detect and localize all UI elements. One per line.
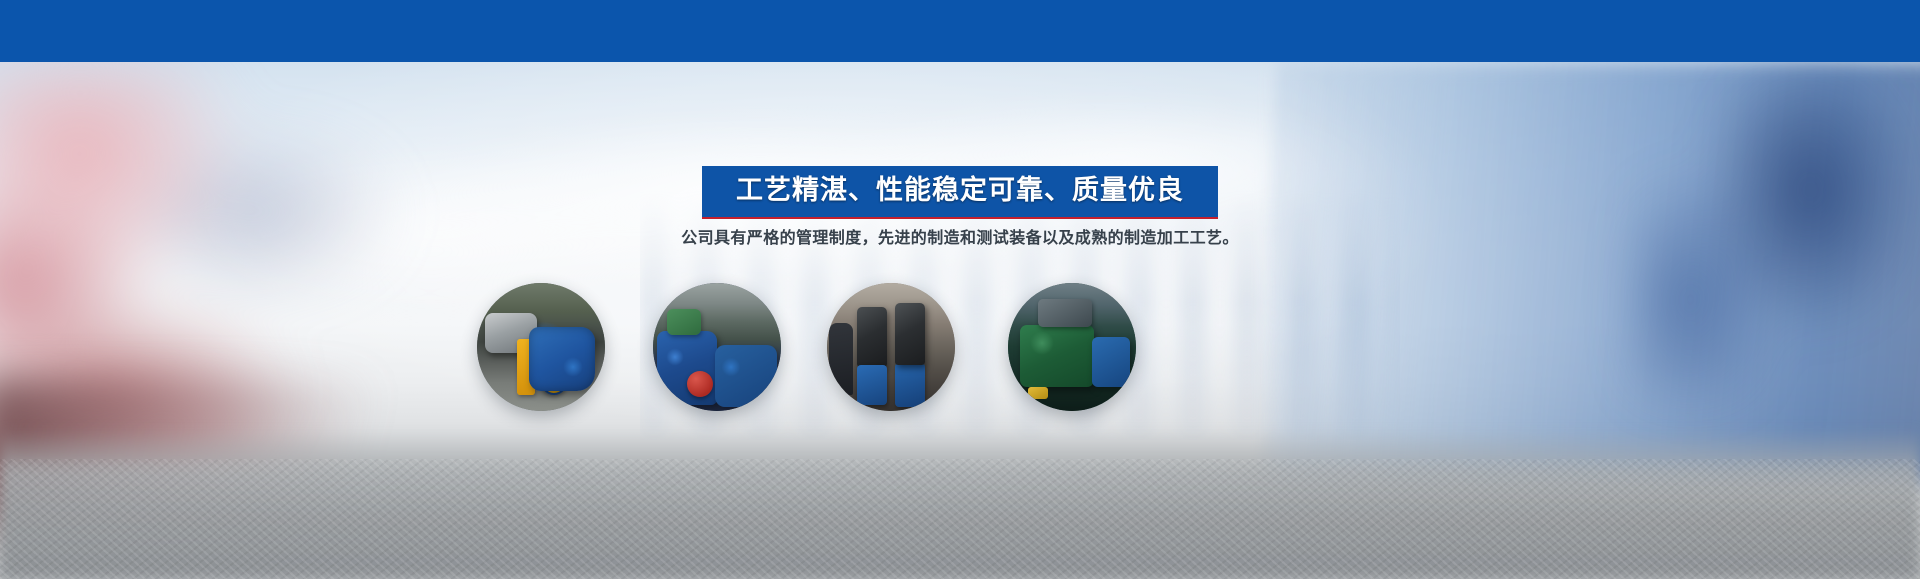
product-photo-gallery [0,283,1920,423]
circle-photo-diesel-engine-pump[interactable] [1008,283,1136,411]
circle-photo-vertical-inline-pumps[interactable] [827,283,955,411]
workshop-red-wheel-2 [687,371,713,397]
engine-yellow-tag [1028,387,1048,399]
pump-yellow-guard [517,339,535,395]
diesel-engine-pump-image [1008,283,1136,411]
split-case-pump-image [477,283,605,411]
headline-container: 工艺精湛、性能稳定可靠、质量优良 [0,166,1920,219]
headline-text: 工艺精湛、性能稳定可靠、质量优良 [736,175,1184,207]
workshop-green-unit [667,309,701,335]
subtitle-text: 公司具有严格的管理制度，先进的制造和测试装备以及成熟的制造加工工艺。 [681,227,1239,249]
pump-size-dial [541,369,567,395]
worker-silhouette [829,323,853,395]
pump-blue-casing-1 [857,365,887,405]
engine-top-cover [1038,299,1092,327]
vertical-inline-pumps-image [827,283,955,411]
circle-photo-workshop-pumps[interactable] [653,283,781,411]
headline-banner: 工艺精湛、性能稳定可靠、质量优良 [702,166,1218,219]
workshop-red-wheel [729,355,763,389]
circle-photo-split-case-pump[interactable] [477,283,605,411]
top-bar [0,0,1920,62]
subtitle-container: 公司具有严格的管理制度，先进的制造和测试装备以及成熟的制造加工工艺。 [0,227,1920,249]
workshop-pumps-image [653,283,781,411]
hero-banner: 工艺精湛、性能稳定可靠、质量优良 公司具有严格的管理制度，先进的制造和测试装备以… [0,0,1920,579]
pump-blue-casing-2 [895,363,925,407]
